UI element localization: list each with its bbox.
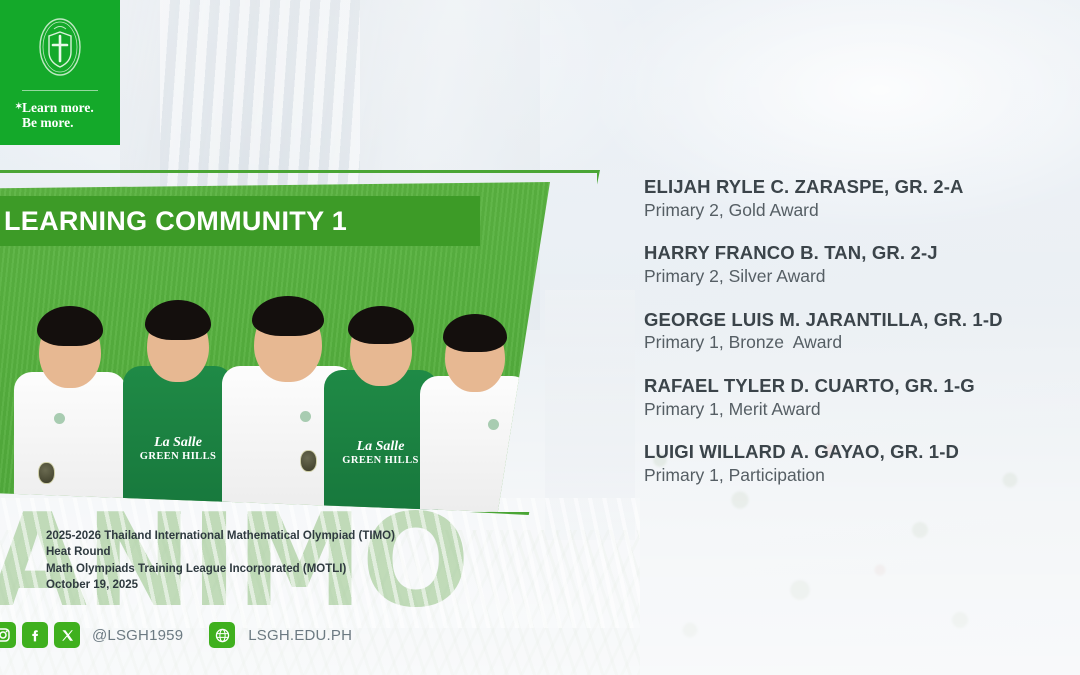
caption-line-3: Math Olympiads Training League Incorpora… (46, 561, 506, 577)
social-handle: @LSGH1959 (92, 627, 183, 644)
awardee-list: ELIJAH RYLE C. ZARASPE, GR. 2-A Primary … (644, 176, 1064, 487)
student-5-patch (488, 419, 499, 430)
panel-title-bar: LEARNING COMMUNITY 1 (0, 196, 480, 246)
social-bar: @LSGH1959 LSGH.EDU.PH (4, 622, 352, 648)
awardee-name: LUIGI WILLARD A. GAYAO, GR. 1-D (644, 441, 1064, 464)
awardee-name: GEORGE LUIS M. JARANTILLA, GR. 1-D (644, 309, 1064, 332)
awardee-item: LUIGI WILLARD A. GAYAO, GR. 1-D Primary … (644, 441, 1064, 486)
panel-title-text: LEARNING COMMUNITY 1 (4, 206, 347, 237)
student-3-hair (252, 296, 324, 336)
student-4-hair (348, 306, 414, 344)
awardee-item: GEORGE LUIS M. JARANTILLA, GR. 1-D Prima… (644, 309, 1064, 354)
website-button[interactable] (209, 622, 235, 648)
awardee-item: RAFAEL TYLER D. CUARTO, GR. 1-G Primary … (644, 375, 1064, 420)
student-3-patch (300, 411, 311, 422)
student-1 (10, 268, 130, 512)
awardee-item: ELIJAH RYLE C. ZARASPE, GR. 2-A Primary … (644, 176, 1064, 221)
globe-icon (214, 627, 231, 644)
website-label: LSGH.EDU.PH (248, 627, 352, 644)
facebook-button[interactable] (22, 622, 48, 648)
school-logo-block: ✶ Learn more. Be more. (0, 0, 120, 145)
slide-canvas: ANIMO ✶ Learn more. Be more. (0, 0, 1080, 675)
x-twitter-icon (60, 628, 75, 643)
student-1-crest (38, 462, 55, 484)
awardee-detail: Primary 2, Gold Award (644, 199, 1064, 222)
student-5-hair (443, 314, 507, 352)
awardee-name: HARRY FRANCO B. TAN, GR. 2-J (644, 242, 1064, 265)
caption-line-2: Heat Round (46, 544, 506, 560)
student-1-hair (37, 306, 103, 346)
instagram-button[interactable] (0, 622, 16, 648)
spark-icon: ✶ (15, 101, 23, 111)
caption-line-1: 2025-2026 Thailand International Mathema… (46, 528, 506, 544)
facebook-icon (27, 627, 43, 643)
awardee-detail: Primary 2, Silver Award (644, 265, 1064, 288)
instagram-icon (0, 627, 11, 643)
caption-line-4: October 19, 2025 (46, 577, 506, 593)
awardee-name: ELIJAH RYLE C. ZARASPE, GR. 2-A (644, 176, 1064, 199)
student-3-crest (300, 450, 317, 472)
student-2-hair (145, 300, 211, 340)
event-caption: 2025-2026 Thailand International Mathema… (46, 528, 506, 593)
awardee-detail: Primary 1, Merit Award (644, 398, 1064, 421)
logo-divider (22, 90, 98, 91)
brand-tagline: ✶ Learn more. Be more. (22, 100, 98, 130)
awardee-name: RAFAEL TYLER D. CUARTO, GR. 1-G (644, 375, 1064, 398)
tagline-line-1: Learn more. (22, 100, 98, 115)
student-1-patch (54, 413, 65, 424)
x-twitter-button[interactable] (54, 622, 80, 648)
awardee-detail: Primary 1, Bronze Award (644, 331, 1064, 354)
student-1-uniform (14, 372, 126, 512)
school-seal-icon (32, 14, 88, 80)
awardee-item: HARRY FRANCO B. TAN, GR. 2-J Primary 2, … (644, 242, 1064, 287)
awardee-detail: Primary 1, Participation (644, 464, 1064, 487)
tagline-line-2: Be more. (22, 115, 98, 130)
